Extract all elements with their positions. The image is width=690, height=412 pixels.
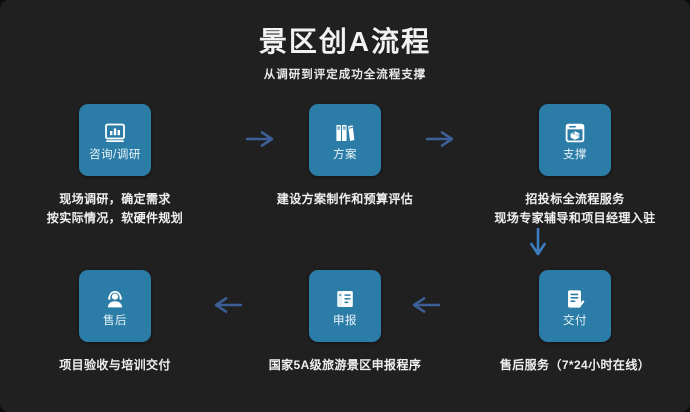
arrow-right-icon [426,129,460,149]
step-card-application[interactable]: 申报 [309,270,381,342]
arrow-down-icon [528,228,548,262]
bar-chart-icon [103,121,127,145]
page-title: 景区创A流程 [0,26,690,58]
step-description: 售后服务（7*24小时在线） [460,356,690,375]
step-card-support[interactable]: 支撑 [539,104,611,176]
step-label: 交付 [563,316,587,328]
flow-step-support: 支撑 招投标全流程服务 现场专家辅导和项目经理入驻 [460,104,690,227]
step-card-plan[interactable]: 方案 [309,104,381,176]
flow-diagram-canvas: 景区创A流程 从调研到评定成功全流程支撑 咨询/调研 现场调研，确定需求 按实际… [0,0,690,412]
flow-step-aftersales: 售后 项目验收与培训交付 [0,270,230,375]
step-description: 现场调研，确定需求 按实际情况，软硬件规划 [0,190,230,227]
flow-step-plan: 方案 建设方案制作和预算评估 [230,104,460,209]
flow-step-application: 申报 国家5A级旅游景区申报程序 [230,270,460,375]
step-card-aftersales[interactable]: 售后 [79,270,151,342]
document-form-icon [333,287,357,311]
step-card-delivery[interactable]: 交付 [539,270,611,342]
step-card-consulting[interactable]: 咨询/调研 [79,104,151,176]
document-check-icon [563,287,587,311]
books-icon [333,121,357,145]
step-description: 招投标全流程服务 现场专家辅导和项目经理入驻 [460,190,690,227]
flow-step-consulting: 咨询/调研 现场调研，确定需求 按实际情况，软硬件规划 [0,104,230,227]
step-description: 国家5A级旅游景区申报程序 [230,356,460,375]
browser-cube-icon [563,121,587,145]
page-subtitle: 从调研到评定成功全流程支撑 [0,66,690,82]
step-label: 申报 [333,316,357,328]
step-label: 咨询/调研 [89,150,141,162]
arrow-right-icon [246,129,280,149]
header: 景区创A流程 从调研到评定成功全流程支撑 [0,26,690,82]
step-label: 支撑 [563,150,587,162]
headset-person-icon [103,287,127,311]
flow-step-delivery: 交付 售后服务（7*24小时在线） [460,270,690,375]
step-label: 方案 [333,150,357,162]
step-description: 项目验收与培训交付 [0,356,230,375]
arrow-left-icon [208,295,242,315]
step-label: 售后 [103,316,127,328]
arrow-left-icon [406,295,440,315]
step-description: 建设方案制作和预算评估 [230,190,460,209]
